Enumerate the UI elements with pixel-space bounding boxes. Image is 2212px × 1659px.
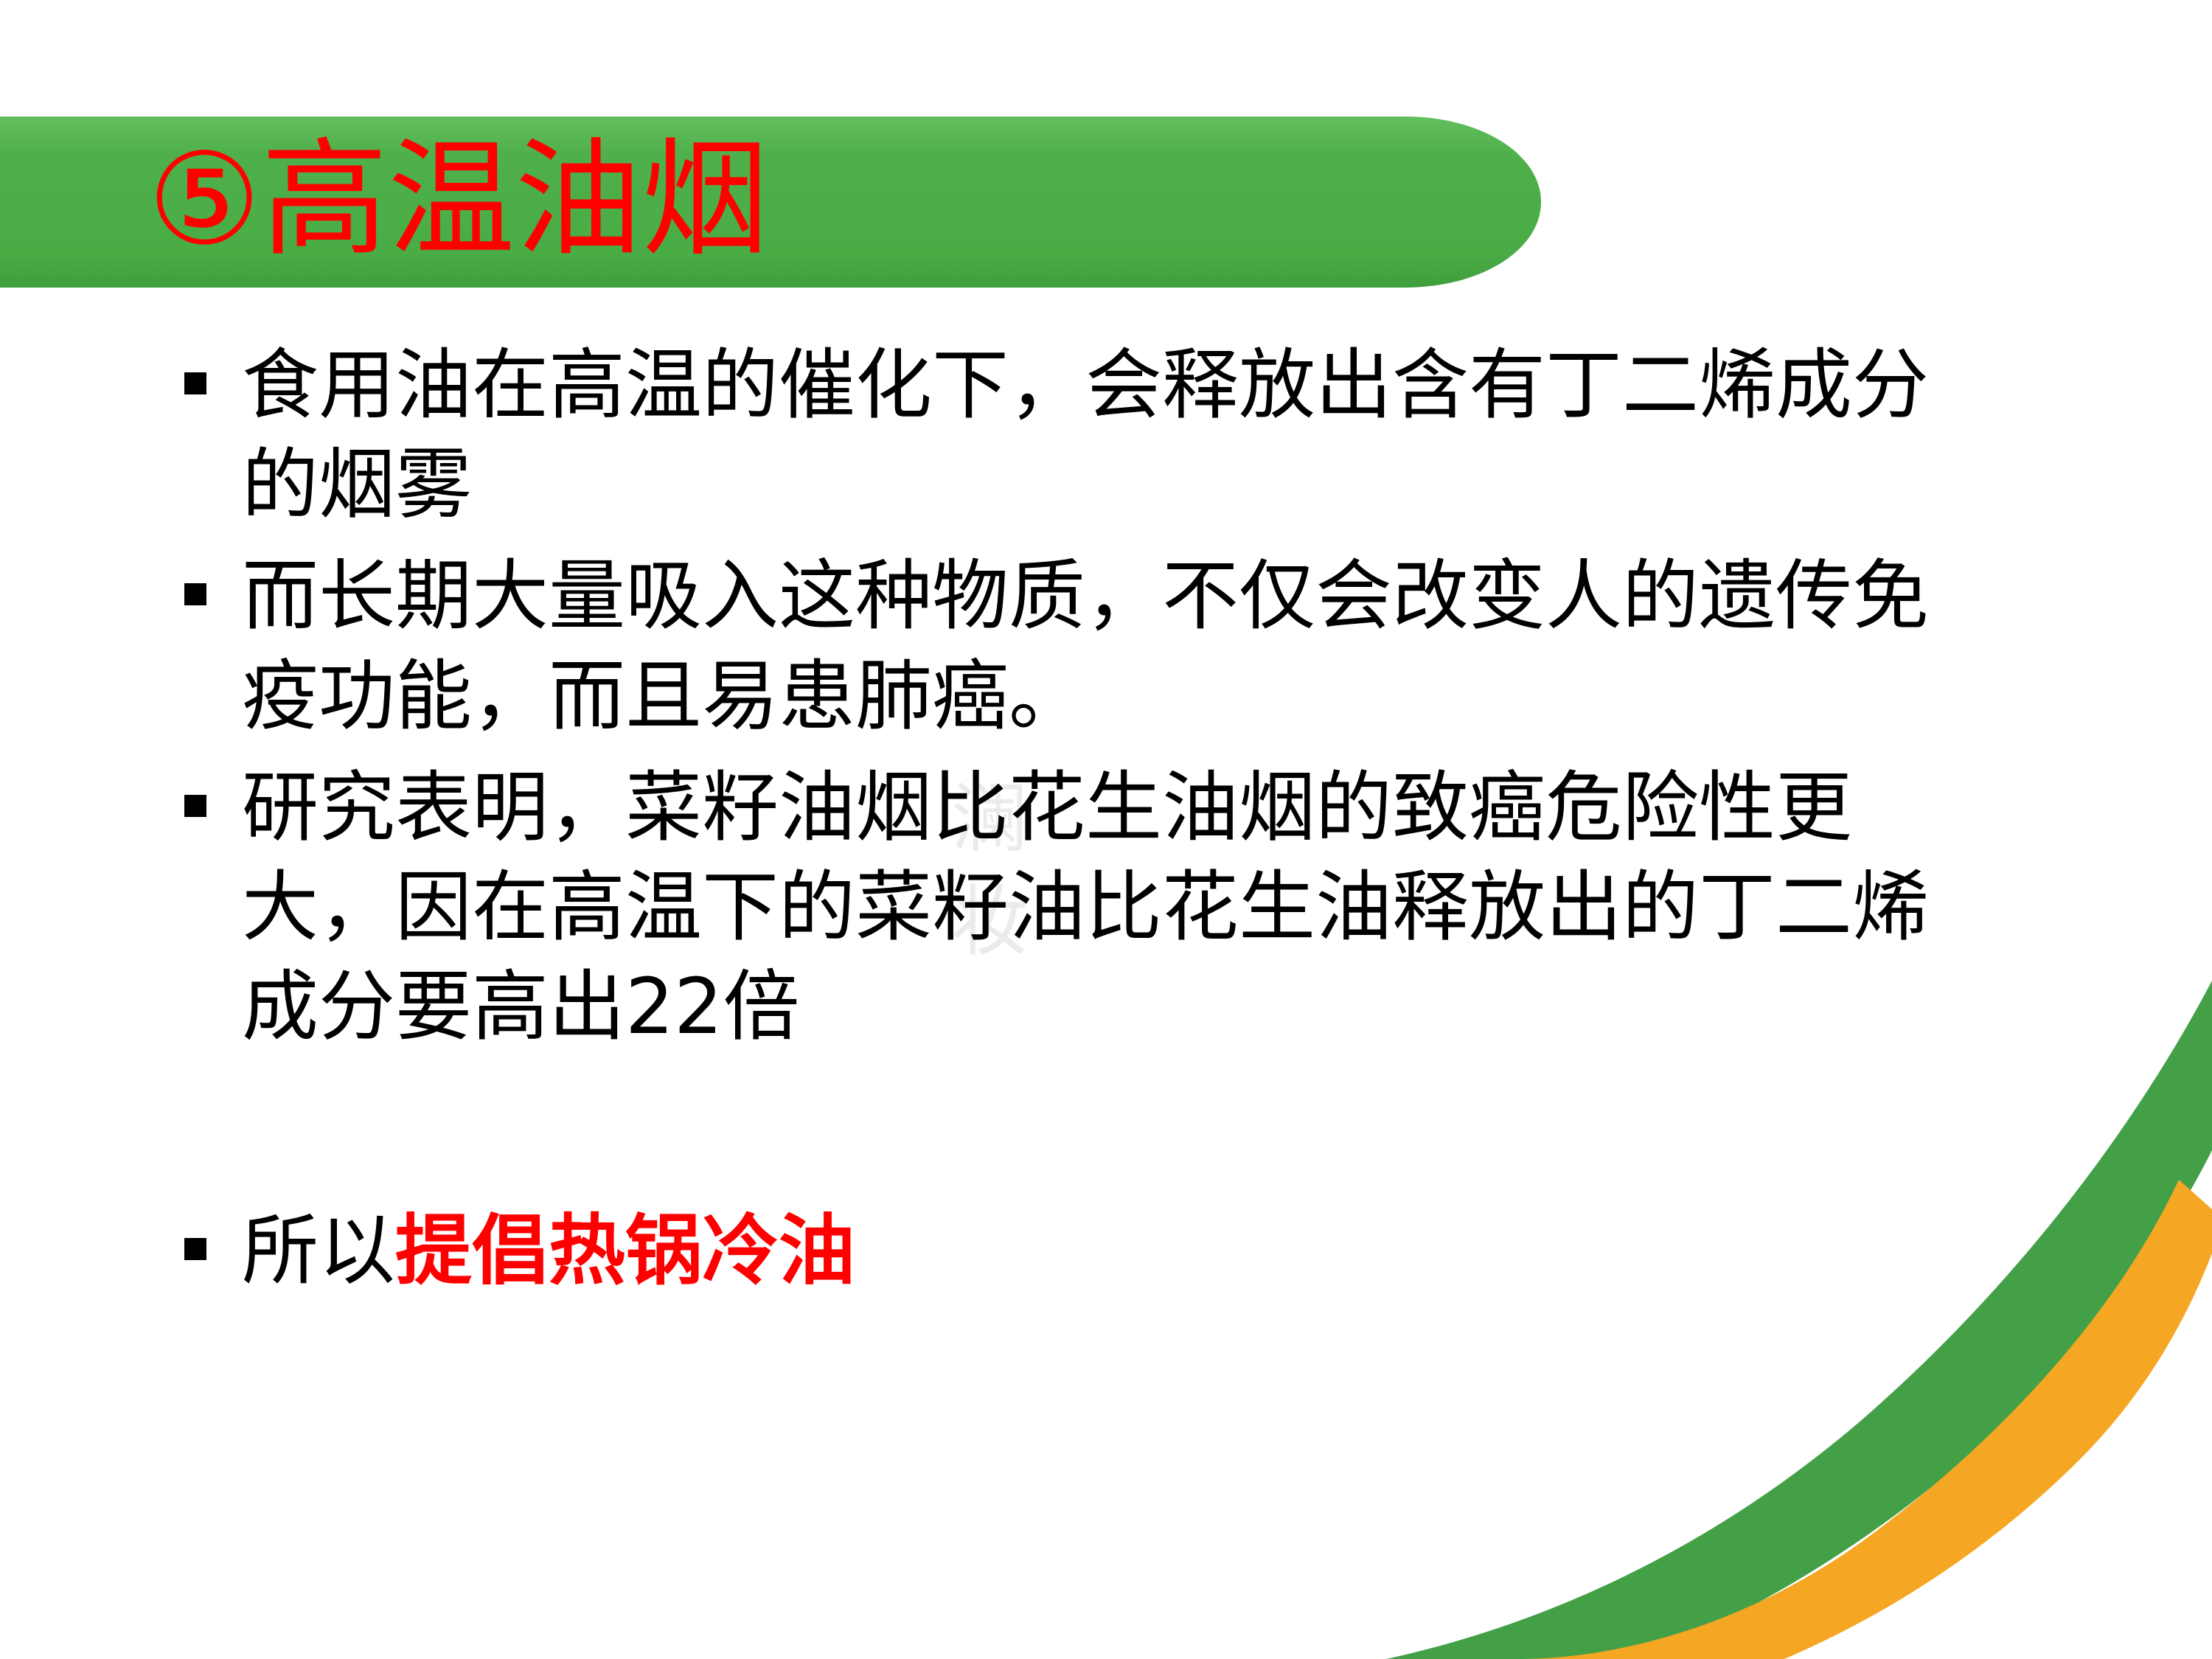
bullet-text: 研究表明，菜籽油烟比花生油烟的致癌危险性更大，因在高温下的菜籽油比花生油释放出的… xyxy=(242,758,1976,1057)
bullet-text-emphasis: 所以提倡热锅冷油 xyxy=(242,1201,1976,1301)
square-bullet-icon xyxy=(184,583,206,605)
bullet-highlight: 提倡热锅冷油 xyxy=(395,1206,855,1295)
square-bullet-icon xyxy=(184,795,206,817)
bullet-text: 而长期大量吸入这种物质，不仅会改变人的遗传免疫功能，而且易患肺癌。 xyxy=(242,546,1976,745)
square-bullet-icon xyxy=(184,372,206,394)
list-item: 食用油在高温的催化下，会释放出含有丁二烯成分的烟雾 xyxy=(184,335,1976,535)
bullet-prefix: 所以 xyxy=(242,1206,395,1295)
square-bullet-icon xyxy=(184,1238,206,1260)
bullet-list: 食用油在高温的催化下，会释放出含有丁二烯成分的烟雾 而长期大量吸入这种物质，不仅… xyxy=(184,335,1976,1313)
list-item: 研究表明，菜籽油烟比花生油烟的致癌危险性更大，因在高温下的菜籽油比花生油释放出的… xyxy=(184,758,1976,1057)
list-item: 而长期大量吸入这种物质，不仅会改变人的遗传免疫功能，而且易患肺癌。 xyxy=(184,546,1976,745)
list-spacer xyxy=(184,1068,1976,1201)
list-item-emphasis: 所以提倡热锅冷油 xyxy=(184,1201,1976,1301)
page-title: ⑤高温油烟 xyxy=(147,109,768,291)
bullet-text: 食用油在高温的催化下，会释放出含有丁二烯成分的烟雾 xyxy=(242,335,1976,535)
slide-canvas: ⑤高温油烟 澜 妆 食用油在高温的催化下，会释放出含有丁二烯成分的烟雾 而长期大… xyxy=(0,0,2212,1659)
